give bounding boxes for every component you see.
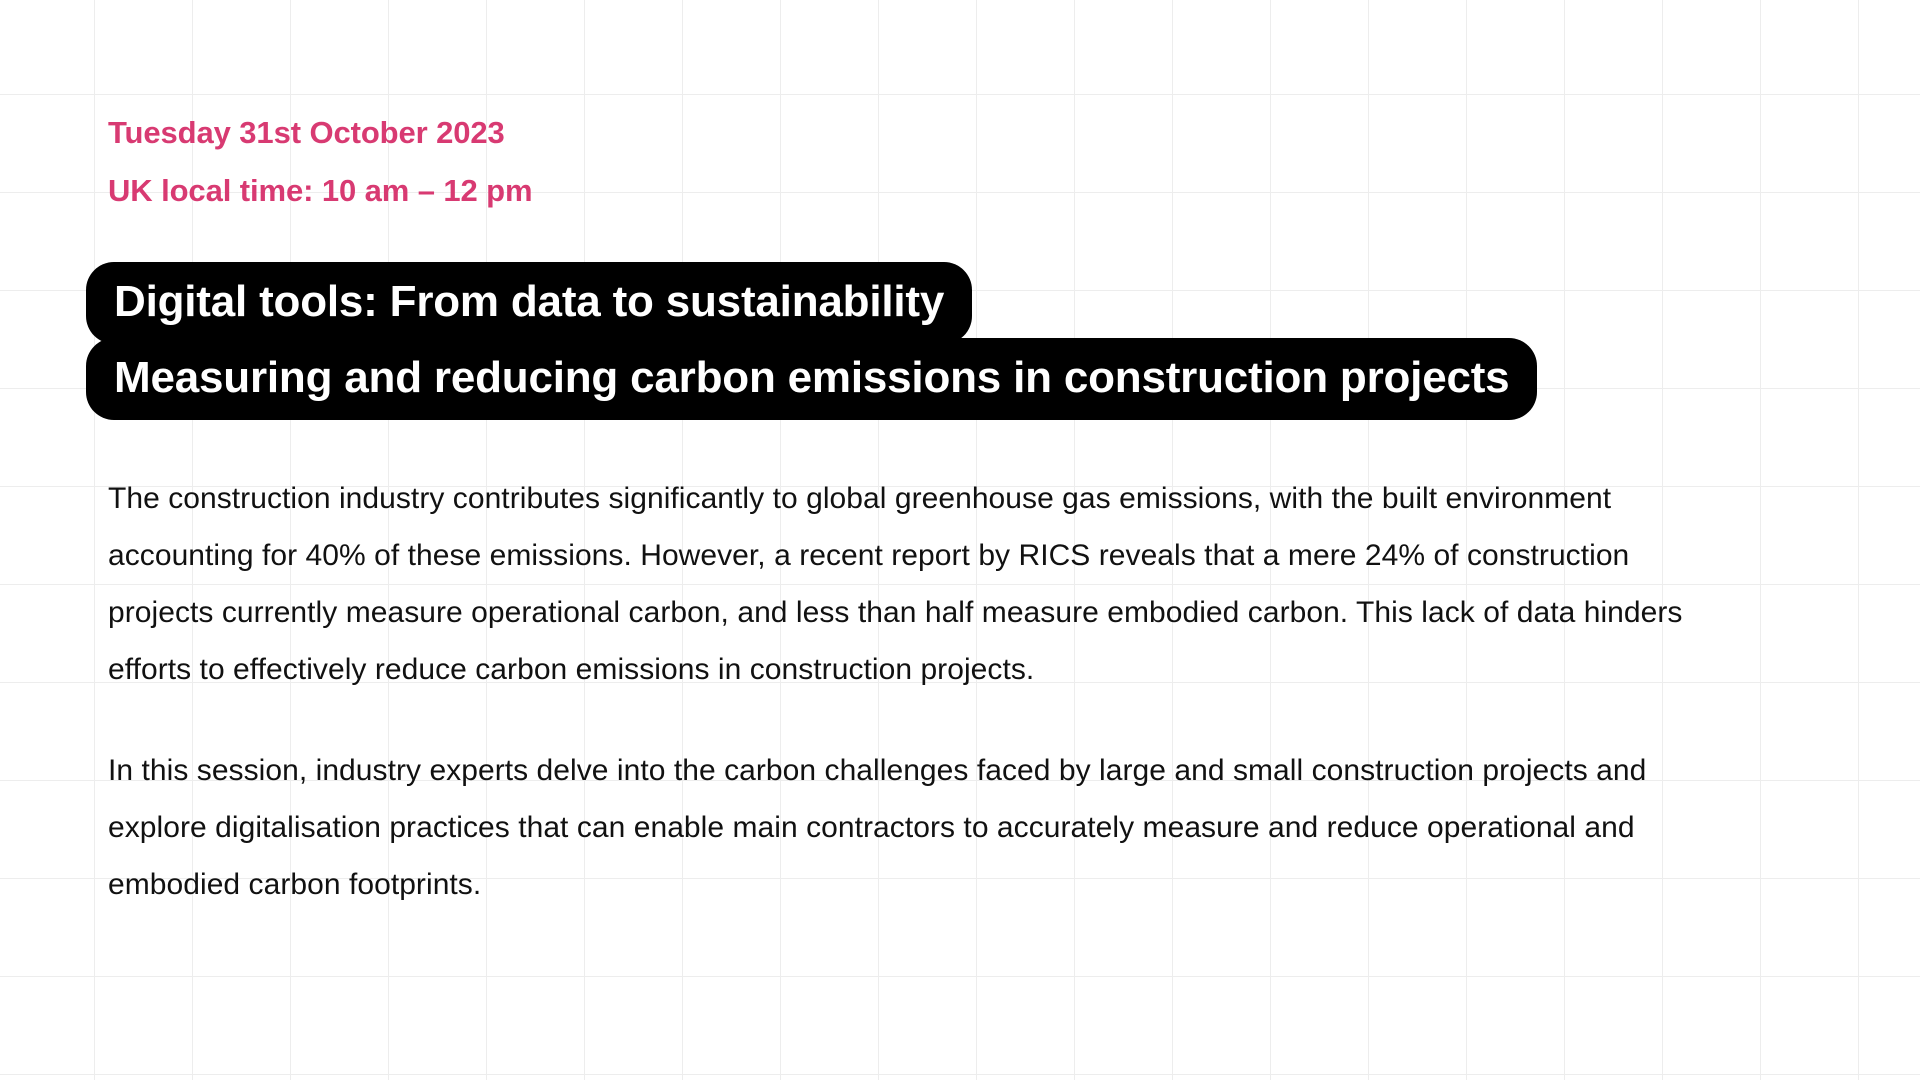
event-meta-block: Tuesday 31st October 2023 UK local time:… bbox=[108, 104, 532, 220]
headline-banner: Digital tools: From data to sustainabili… bbox=[86, 262, 1846, 420]
announcement-page: Tuesday 31st October 2023 UK local time:… bbox=[0, 0, 1920, 1080]
headline-line-1: Digital tools: From data to sustainabili… bbox=[86, 262, 972, 344]
body-paragraph-2: In this session, industry experts delve … bbox=[108, 742, 1733, 913]
event-date: Tuesday 31st October 2023 bbox=[108, 104, 532, 162]
event-time: UK local time: 10 am – 12 pm bbox=[108, 162, 532, 220]
body-paragraph-1: The construction industry contributes si… bbox=[108, 470, 1733, 698]
body-copy: The construction industry contributes si… bbox=[108, 470, 1758, 913]
headline-line-2: Measuring and reducing carbon emissions … bbox=[86, 338, 1537, 420]
